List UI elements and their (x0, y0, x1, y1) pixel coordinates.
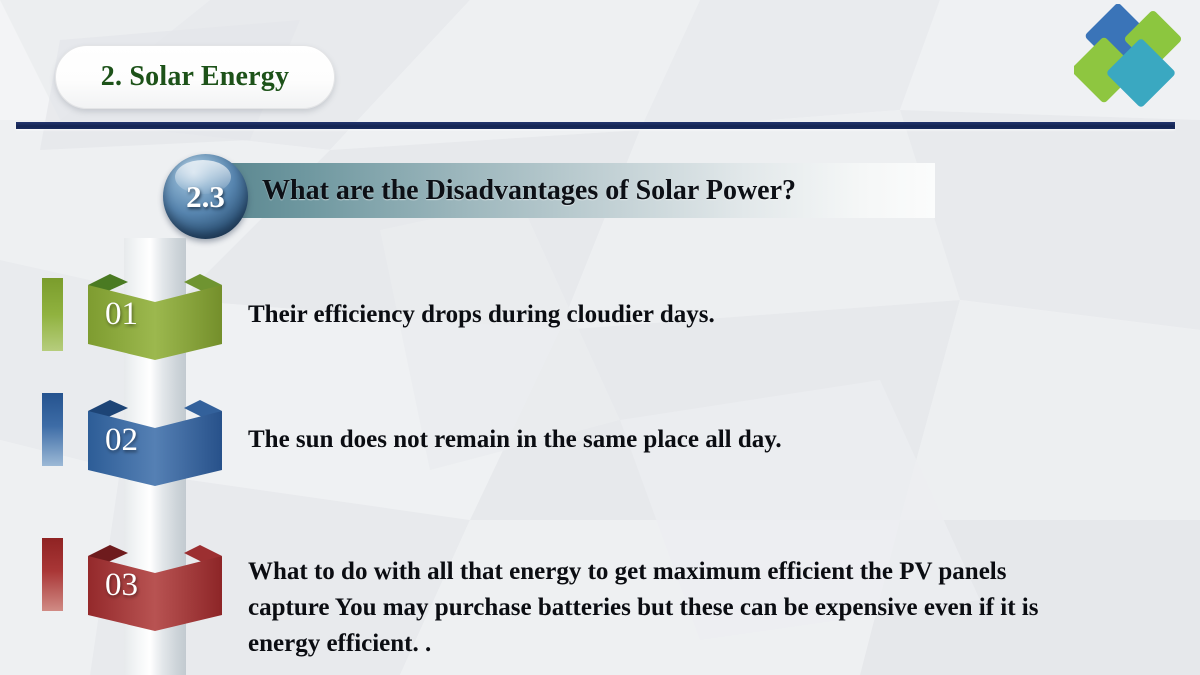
item-text-01: Their efficiency drops during cloudier d… (248, 297, 715, 333)
section-number-badge: 2.3 (163, 154, 248, 239)
numbered-box-03: 03 (88, 543, 222, 638)
section-banner-heading: What are the Disadvantages of Solar Powe… (262, 175, 796, 207)
section-title-pill[interactable]: 2. Solar Energy (55, 45, 335, 109)
section-title-text: 2. Solar Energy (101, 61, 289, 93)
item-text-02: The sun does not remain in the same plac… (248, 422, 782, 458)
four-diamonds-logo (1074, 4, 1192, 116)
numbered-box-02: 02 (88, 398, 222, 493)
presentation-slide: 2. Solar Energy What are the Disadvantag… (0, 0, 1200, 675)
item-text-03: What to do with all that energy to get m… (248, 554, 1088, 662)
accent-bar-01 (42, 278, 63, 351)
accent-bar-03 (42, 538, 63, 611)
section-number-text: 2.3 (186, 179, 225, 215)
header-divider-rule (16, 122, 1175, 129)
section-banner: What are the Disadvantages of Solar Powe… (205, 163, 935, 218)
numbered-box-01: 01 (88, 272, 222, 367)
accent-bar-02 (42, 393, 63, 466)
